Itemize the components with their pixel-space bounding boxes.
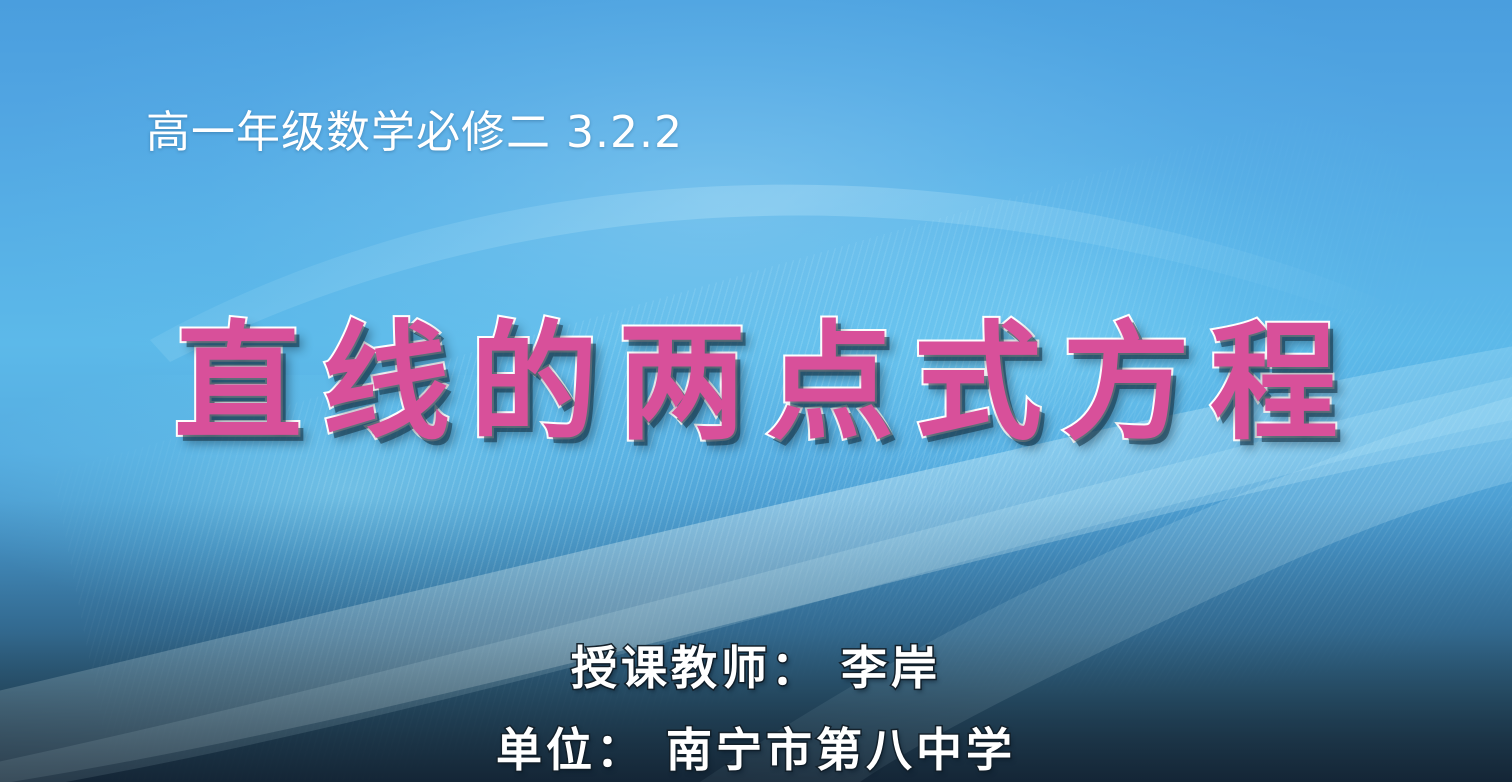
slide-subject-header: 高一年级数学必修二 3.2.2 xyxy=(146,108,683,159)
presentation-slide: 高一年级数学必修二 3.2.2 直线的两点式方程 授课教师： 李岸 单位： 南宁… xyxy=(0,0,1512,782)
credit-line-teacher: 授课教师： 李岸 xyxy=(0,632,1512,698)
credit-line-school: 单位： 南宁市第八中学 xyxy=(0,714,1512,780)
slide-main-title: 直线的两点式方程 xyxy=(0,320,1512,448)
